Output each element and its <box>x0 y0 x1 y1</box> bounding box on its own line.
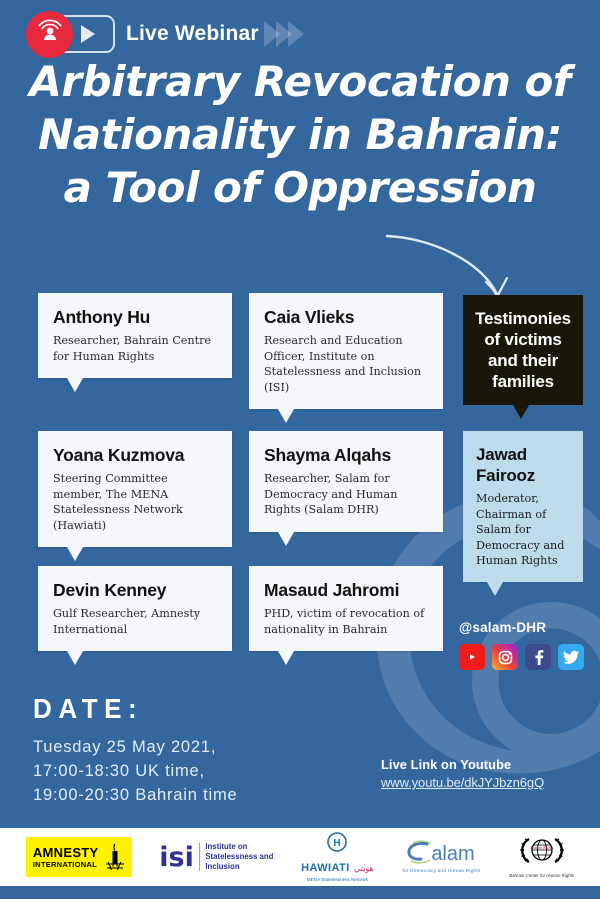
salam-swirl-icon: alam <box>401 839 481 865</box>
hawiati-arabic: هويتي <box>354 864 374 873</box>
bchr-subtitle: Bahrain Center for Human Rights <box>509 874 574 879</box>
salam-subtitle: for Democracy and Human Rights <box>401 870 481 875</box>
social-icon-row <box>459 644 584 670</box>
webinar-poster: Live Webinar Arbitrary Revocation of Nat… <box>0 0 600 899</box>
live-broadcast-icon <box>26 11 73 58</box>
speaker-card-shayma-alqahs[interactable]: Shayma Alqahs Researcher, Salam for Demo… <box>249 431 443 532</box>
social-section: @salam-DHR <box>459 620 584 670</box>
speaker-name: Anthony Hu <box>53 307 217 328</box>
hawiati-mark-icon: H <box>320 832 354 854</box>
speaker-name: Devin Kenney <box>53 580 217 601</box>
social-handle: @salam-DHR <box>459 620 584 635</box>
title-line-1: Arbitrary Revocation of <box>16 55 584 108</box>
live-webinar-bar: Live Webinar <box>26 10 304 58</box>
isi-monogram: isi <box>159 844 194 871</box>
page-title: Arbitrary Revocation of Nationality in B… <box>0 55 600 214</box>
facebook-icon[interactable] <box>525 644 551 670</box>
speaker-name: Shayma Alqahs <box>264 445 428 466</box>
logo-hawiati: H HAWIATI هويتي MENA Statelessness Netwo… <box>301 832 374 882</box>
youtube-icon[interactable] <box>459 644 485 670</box>
isi-text-line-2: Statelessness and <box>205 852 273 862</box>
date-heading: DATE: <box>33 693 223 725</box>
speaker-role: Gulf Researcher, Amnesty International <box>53 606 217 637</box>
amnesty-line-1: AMNESTY <box>33 846 99 859</box>
speaker-name: Yoana Kuzmova <box>53 445 217 466</box>
speaker-role: Moderator, Chairman of Salam for Democra… <box>476 491 570 569</box>
date-line-1: Tuesday 25 May 2021, <box>33 735 238 759</box>
date-line-2: 17:00-18:30 UK time, <box>33 759 238 783</box>
candle-barbed-wire-icon <box>105 842 125 872</box>
speaker-name: Masaud Jahromi <box>264 580 428 601</box>
logo-bahrain-centre-human-rights: Human Rights Bahrain Center for Human Ri… <box>509 835 574 878</box>
twitter-icon[interactable] <box>558 644 584 670</box>
logo-isi: isi Institute on Statelessness and Inclu… <box>159 842 273 872</box>
speaker-role: Steering Committee member, The MENA Stat… <box>53 471 217 533</box>
partner-logos-footer: AMNESTY INTERNATIONAL isi Institute on S… <box>0 828 600 886</box>
logo-salam: alam for Democracy and Human Rights <box>401 839 481 875</box>
speaker-role: Research and Education Officer, Institut… <box>264 333 428 395</box>
live-webinar-label: Live Webinar <box>126 22 259 46</box>
speaker-card-devin-kenney[interactable]: Devin Kenney Gulf Researcher, Amnesty In… <box>38 566 232 651</box>
youtube-link-section: Live Link on Youtube www.youtu.be/dkJYJb… <box>381 757 544 792</box>
amnesty-line-2: INTERNATIONAL <box>33 861 99 869</box>
chevron-right-icon <box>288 21 304 47</box>
speaker-name: Jawad Fairooz <box>476 444 570 486</box>
hawiati-name: HAWIATI <box>301 862 349 874</box>
title-line-3: a Tool of Oppression <box>16 161 584 214</box>
svg-text:H: H <box>334 838 341 849</box>
svg-text:Human Rights: Human Rights <box>529 845 553 850</box>
speaker-name: Caia Vlieks <box>264 307 428 328</box>
speaker-card-anthony-hu[interactable]: Anthony Hu Researcher, Bahrain Centre fo… <box>38 293 232 378</box>
bchr-globe-wreath-icon: Human Rights <box>517 835 567 869</box>
testimonies-card[interactable]: Testimonies of victims and their familie… <box>463 295 583 405</box>
speaker-role: Researcher, Bahrain Centre for Human Rig… <box>53 333 217 364</box>
speaker-role: Researcher, Salam for Democracy and Huma… <box>264 471 428 518</box>
footer-bottom-strip <box>0 886 600 899</box>
title-line-2: Nationality in Bahrain: <box>16 108 584 161</box>
speaker-role: PHD, victim of revocation of nationality… <box>264 606 428 637</box>
youtube-link-url[interactable]: www.youtu.be/dkJYJbzn6gQ <box>381 775 544 790</box>
chevron-arrows <box>268 21 304 47</box>
speaker-card-caia-vlieks[interactable]: Caia Vlieks Research and Education Offic… <box>249 293 443 409</box>
date-line-3: 19:00-20:30 Bahrain time <box>33 783 238 807</box>
speaker-card-masaud-jahromi[interactable]: Masaud Jahromi PHD, victim of revocation… <box>249 566 443 651</box>
live-link-label: Live Link on Youtube <box>381 757 544 772</box>
hawiati-subtitle: MENA Statelessness Network <box>301 877 374 882</box>
date-section: DATE: Tuesday 25 May 2021, 17:00-18:30 U… <box>33 693 238 807</box>
moderator-card-jawad-fairooz[interactable]: Jawad Fairooz Moderator, Chairman of Sal… <box>463 431 583 582</box>
isi-text-line-1: Institute on <box>205 842 273 852</box>
logo-amnesty-international: AMNESTY INTERNATIONAL <box>26 837 132 877</box>
isi-divider <box>199 843 201 871</box>
svg-text:alam: alam <box>432 843 475 865</box>
speaker-card-yoana-kuzmova[interactable]: Yoana Kuzmova Steering Committee member,… <box>38 431 232 547</box>
testimonies-label: Testimonies of victims and their familie… <box>473 308 573 392</box>
instagram-icon[interactable] <box>492 644 518 670</box>
isi-text-line-3: Inclusion <box>205 862 273 872</box>
